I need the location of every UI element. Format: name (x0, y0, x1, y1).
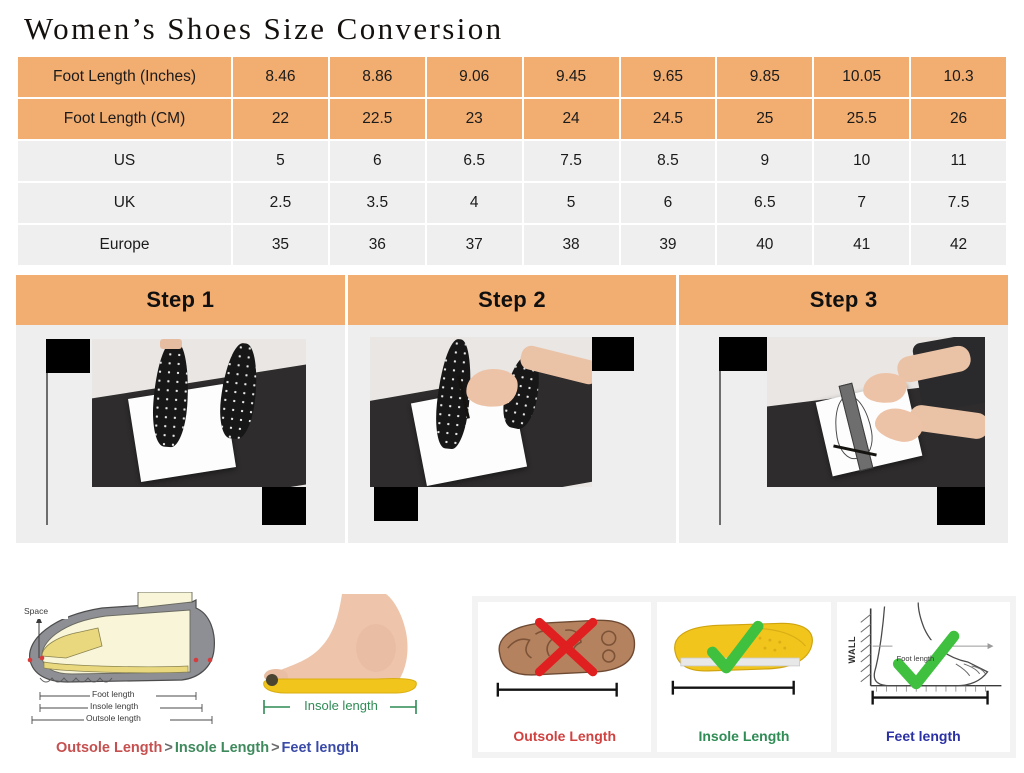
length-comparison-caption: Outsole Length>Insole Length>Feet length (56, 740, 359, 756)
insole-toe-pad (266, 674, 278, 686)
step-column-2: Step 2 (348, 275, 677, 543)
panel-outsole: Outsole Length (478, 602, 651, 752)
table-row: UK 2.5 3.5 4 5 6 6.5 7 7.5 (18, 183, 1006, 223)
step-column-3: Step 3 (679, 275, 1008, 543)
table-row: US 5 6 6.5 7.5 8.5 9 10 11 (18, 141, 1006, 181)
step-3-header: Step 3 (679, 275, 1008, 325)
black-corner-bottom (374, 485, 418, 521)
caption-outsole: Outsole Length (56, 740, 162, 756)
table-row: Europe 35 36 37 38 39 40 41 42 (18, 225, 1006, 265)
step-2-photo (348, 325, 677, 543)
cell: 35 (233, 225, 328, 265)
insole-svg (657, 602, 830, 712)
photo-frame (767, 337, 985, 487)
foot-on-insole-svg (246, 594, 466, 714)
cell: 7.5 (911, 183, 1006, 223)
cell: 6.5 (717, 183, 812, 223)
cell: 9.06 (427, 57, 522, 97)
cell: 6.5 (427, 141, 522, 181)
shoe-cross-section-diagram: Space Foot length Insole length Outsole … (6, 592, 246, 732)
caption-sep-2: > (269, 740, 281, 756)
black-corner-top (46, 339, 90, 373)
outsole-bottom-svg (478, 602, 651, 712)
yellow-insole (264, 678, 417, 693)
cell: 24.5 (621, 99, 716, 139)
row-header-uk: UK (18, 183, 231, 223)
panel-insole: Insole Length (657, 602, 830, 752)
row-header-europe: Europe (18, 225, 231, 265)
insole-foam-edge (681, 658, 800, 666)
cell: 10.3 (911, 57, 1006, 97)
size-table-body: Foot Length (Inches) 8.46 8.86 9.06 9.45… (18, 57, 1006, 265)
cell: 25 (717, 99, 812, 139)
step-1-photo (16, 325, 345, 543)
table-row: Foot Length (CM) 22 22.5 23 24 24.5 25 2… (18, 99, 1006, 139)
cell: 40 (717, 225, 812, 265)
cell: 10 (814, 141, 909, 181)
cell: 8.46 (233, 57, 328, 97)
row-header-inches: Foot Length (Inches) (18, 57, 231, 97)
cell: 22 (233, 99, 328, 139)
wall-hatching (860, 614, 870, 681)
step-2-header: Step 2 (348, 275, 677, 325)
foot-on-insole-illustration: Insole length (246, 594, 466, 734)
black-corner-bottom (937, 483, 985, 525)
step-column-1: Step 1 (16, 275, 345, 543)
measure-point-insole-right (194, 658, 199, 663)
photo-frame (370, 337, 592, 487)
cell: 41 (814, 225, 909, 265)
panel-feet: WALL Foot length Feet length (837, 602, 1010, 752)
measure-point-insole-left (40, 656, 45, 661)
toes-lines (956, 664, 986, 676)
cell: 23 (427, 99, 522, 139)
table-row: Foot Length (Inches) 8.46 8.86 9.06 9.45… (18, 57, 1006, 97)
floor-hatching (876, 686, 985, 692)
cell: 25.5 (814, 99, 909, 139)
insole-length-label: Insole length (90, 701, 138, 711)
row-header-us: US (18, 141, 231, 181)
inner-foot-length-label: Foot length (897, 654, 935, 663)
cell: 6 (330, 141, 425, 181)
caption-feet: Feet length (282, 740, 359, 756)
size-conversion-table: Foot Length (Inches) 8.46 8.86 9.06 9.45… (16, 55, 1008, 267)
cell: 39 (621, 225, 716, 265)
cell: 4 (427, 183, 522, 223)
panel-feet-label: Feet length (837, 728, 1010, 744)
cell: 22.5 (330, 99, 425, 139)
cell: 5 (233, 141, 328, 181)
cell: 9.65 (621, 57, 716, 97)
steps-section: Step 1 Step 2 (16, 275, 1008, 543)
cell: 8.5 (621, 141, 716, 181)
left-guide-line (719, 369, 721, 525)
black-corner-top (719, 337, 767, 371)
caption-sep-1: > (162, 740, 174, 756)
cell: 24 (524, 99, 619, 139)
cell: 2.5 (233, 183, 328, 223)
row-header-cm: Foot Length (CM) (18, 99, 231, 139)
cell: 3.5 (330, 183, 425, 223)
cell: 26 (911, 99, 1006, 139)
insole-length-photo-label: Insole length (292, 698, 390, 713)
cell: 7.5 (524, 141, 619, 181)
cell: 37 (427, 225, 522, 265)
cell: 10.05 (814, 57, 909, 97)
step-1-header: Step 1 (16, 275, 345, 325)
black-corner-bottom (262, 483, 306, 525)
black-corner-top (592, 337, 634, 371)
cell: 9 (717, 141, 812, 181)
cell: 11 (911, 141, 1006, 181)
panel-insole-label: Insole Length (657, 728, 830, 744)
measure-point-outsole-right (208, 658, 213, 663)
cell: 6 (621, 183, 716, 223)
photo-frame (92, 339, 306, 487)
cell: 5 (524, 183, 619, 223)
outsole-length-label: Outsole length (86, 713, 141, 723)
comparison-panels: Outsole Length Insole Length (472, 596, 1016, 758)
ankle-skin (160, 339, 182, 349)
cell: 36 (330, 225, 425, 265)
cell: 9.45 (524, 57, 619, 97)
left-guide-line (46, 367, 48, 525)
heel-shading (356, 624, 396, 672)
bottom-illustrations: Space Foot length Insole length Outsole … (0, 590, 1024, 773)
cell: 42 (911, 225, 1006, 265)
cell: 38 (524, 225, 619, 265)
cell: 8.86 (330, 57, 425, 97)
caption-insole: Insole Length (175, 740, 269, 756)
step-3-photo (679, 325, 1008, 543)
measure-point-outsole-left (28, 658, 33, 663)
space-label: Space (24, 606, 48, 616)
panel-outsole-label: Outsole Length (478, 728, 651, 744)
wall-label: WALL (847, 636, 857, 664)
foot-length-label: Foot length (92, 689, 135, 699)
page-title: Women’s Shoes Size Conversion (0, 0, 1024, 55)
cell: 7 (814, 183, 909, 223)
cell: 9.85 (717, 57, 812, 97)
inner-foot-length-arrow (987, 643, 993, 649)
